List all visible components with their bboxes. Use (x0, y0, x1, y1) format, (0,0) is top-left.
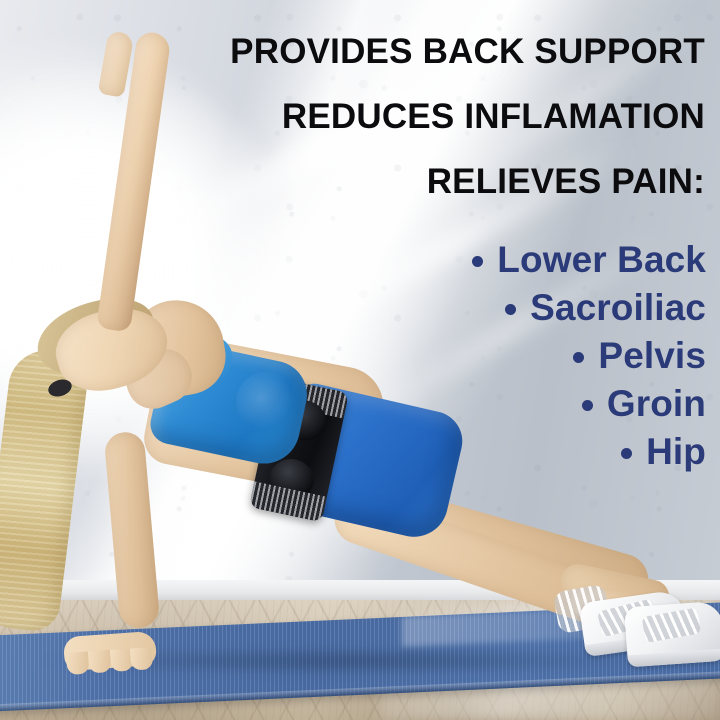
promo-image: PROVIDES BACK SUPPORT REDUCES INFLAMATIO… (0, 0, 720, 720)
bullet-dot-icon (621, 448, 632, 459)
sneaker-front (624, 601, 720, 668)
list-item: Pelvis (286, 336, 706, 376)
list-item: Lower Back (286, 240, 706, 280)
pain-area-label: Groin (607, 384, 706, 424)
shoelaces-icon (642, 608, 702, 643)
headline-block: PROVIDES BACK SUPPORT REDUCES INFLAMATIO… (145, 34, 705, 199)
pain-area-label: Pelvis (598, 336, 706, 376)
shoe-sole (627, 649, 720, 668)
hair-strands (0, 346, 91, 633)
list-item: Groin (286, 384, 706, 424)
bullet-dot-icon (582, 400, 593, 411)
pain-area-label: Hip (646, 432, 706, 472)
bullet-dot-icon (573, 352, 584, 363)
supporting-arm (104, 431, 161, 630)
ponytail (0, 346, 91, 633)
bullet-dot-icon (505, 304, 516, 315)
headline-line-3: RELIEVES PAIN: (145, 164, 705, 199)
list-item: Sacroiliac (286, 288, 706, 328)
list-item: Hip (286, 432, 706, 472)
headline-line-1: PROVIDES BACK SUPPORT (145, 34, 705, 69)
supporting-hand (63, 631, 157, 671)
headline-line-2: REDUCES INFLAMATION (145, 99, 705, 134)
bullet-dot-icon (472, 256, 483, 267)
pain-area-list: Lower Back Sacroiliac Pelvis Groin Hip (286, 240, 706, 472)
pain-area-label: Lower Back (497, 240, 706, 280)
pain-area-label: Sacroiliac (530, 288, 706, 328)
